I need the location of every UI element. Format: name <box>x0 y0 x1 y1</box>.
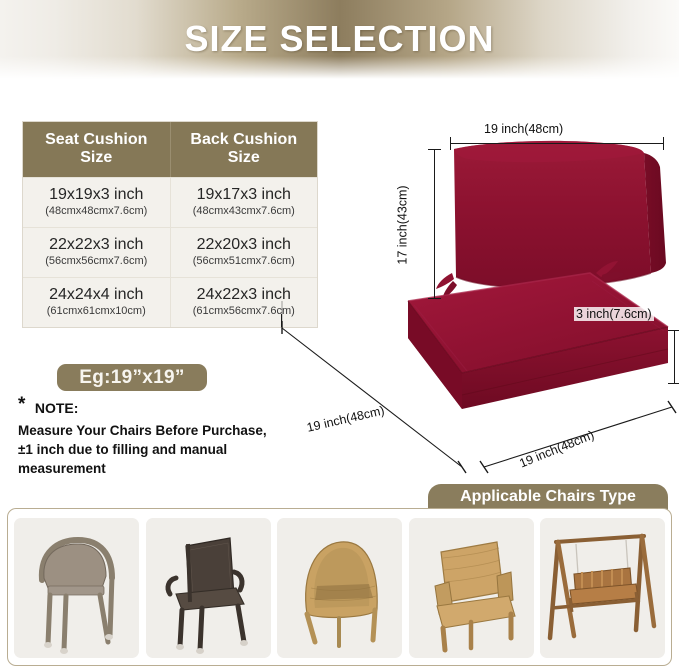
dark-rattan-dining-chair-icon <box>146 518 271 658</box>
dimension-cap-seat-front-left <box>281 314 282 327</box>
dimension-cap-thickness-bottom <box>668 383 679 384</box>
note-block: * NOTE: Measure Your Chairs Before Purch… <box>18 400 278 478</box>
column-header-seat-cushion: Seat Cushion Size <box>23 122 171 177</box>
dimension-cap-right <box>663 137 664 150</box>
dimension-cap-thickness-top <box>668 330 679 331</box>
dimension-label-thickness: 3 inch(7.6cm) <box>574 307 654 321</box>
seat-size-cm: (61cmx61cmx10cm) <box>25 304 168 319</box>
dimension-line-back-width <box>450 143 664 144</box>
seat-size-cell: 24x24x4 inch (61cmx61cmx10cm) <box>23 278 171 327</box>
woven-barrel-chair-icon <box>277 518 402 658</box>
applicable-chairs-tab: Applicable Chairs Type <box>428 484 668 510</box>
chairs-gallery <box>14 518 665 658</box>
chair-tile-dark-rattan-dining-chair[interactable] <box>146 518 271 658</box>
example-size-badge: Eg:19”x19” <box>57 364 207 391</box>
dimension-cap-top <box>428 149 441 150</box>
cushion-diagram: 19 inch(48cm) 17 inch(43cm) 3 inch(7.6cm… <box>262 105 679 475</box>
asterisk-icon: * <box>18 400 25 410</box>
dimension-cap-bottom <box>428 298 441 299</box>
seat-size-inch: 19x19x3 inch <box>25 185 168 204</box>
banner-fade-overlay <box>0 56 679 82</box>
chair-tile-wooden-porch-swing[interactable] <box>540 518 665 658</box>
dimension-line-back-height <box>434 149 435 299</box>
seat-size-cm: (56cmx56cmx7.6cm) <box>25 254 168 269</box>
page-header-banner: SIZE SELECTION <box>0 0 679 82</box>
page-title: SIZE SELECTION <box>0 18 679 60</box>
seat-size-inch: 24x24x4 inch <box>25 285 168 304</box>
back-cushion-shape <box>454 141 666 288</box>
chair-tile-woven-barrel-chair[interactable] <box>277 518 402 658</box>
natural-rattan-armchair-icon <box>409 518 534 658</box>
dimension-label-back-width: 19 inch(48cm) <box>484 122 563 136</box>
seat-size-cm: (48cmx48cmx7.6cm) <box>25 204 168 219</box>
seat-size-cell: 19x19x3 inch (48cmx48cmx7.6cm) <box>23 178 171 227</box>
seat-size-inch: 22x22x3 inch <box>25 235 168 254</box>
round-back-wicker-chair-icon <box>14 518 139 658</box>
chair-tile-natural-rattan-armchair[interactable] <box>409 518 534 658</box>
note-body: Measure Your Chairs Before Purchase, ±1 … <box>18 421 278 478</box>
seat-size-cell: 22x22x3 inch (56cmx56cmx7.6cm) <box>23 228 171 277</box>
dimension-cap-left <box>450 137 451 150</box>
dimension-line-thickness <box>674 330 675 384</box>
dimension-label-back-height: 17 inch(43cm) <box>396 185 410 264</box>
chair-tile-round-back-wicker-chair[interactable] <box>14 518 139 658</box>
note-label: NOTE: <box>35 400 79 416</box>
wooden-porch-swing-icon <box>540 518 665 658</box>
